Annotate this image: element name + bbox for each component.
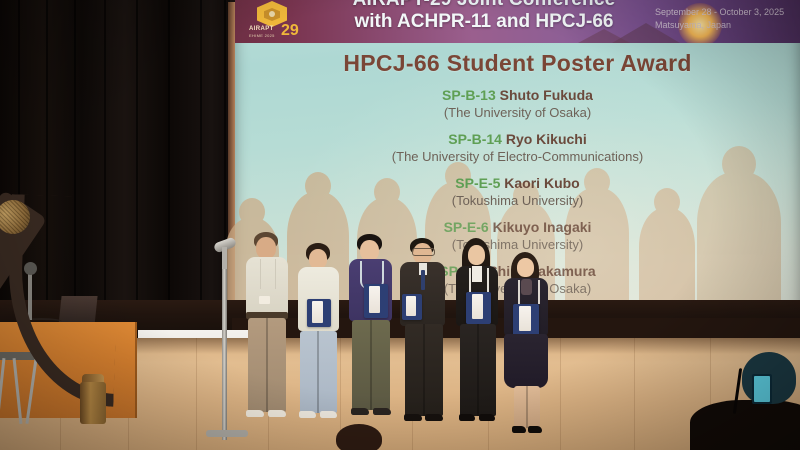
certificate-folder [513,304,539,336]
shoe [459,414,475,421]
banner-title-line2: with ACHPR-11 and HPCJ-66 [319,11,649,32]
audience-body [690,400,800,450]
award-entry-line: SP-B-14 Ryo Kikuchi [235,130,800,148]
mic-stand-head [210,238,240,268]
award-code: SP-B-14 [448,131,502,147]
folding-chair [0,352,38,426]
shoe [299,411,316,418]
legs [405,324,443,416]
banner-title-line1: AIRAPT-29 Joint Conference [319,0,649,10]
award-code: SP-B-13 [442,87,496,103]
award-name: Shiro Nakamura [488,263,595,279]
head [256,237,276,259]
award-code: SP-E-6 [444,219,489,235]
award-name: Kikuyo Inagaki [493,219,592,235]
legs [248,318,286,412]
lanyard [469,268,489,294]
shoe [320,411,337,418]
conference-banner: AIRAPT EHIME 2025 29 AIRAPT-29 Joint Con… [235,0,800,43]
head [517,258,534,277]
glasses-icon [412,248,435,256]
award-entry-line: SP-B-13 Shuto Fukuda [235,86,800,104]
legs [352,320,390,410]
head [309,249,327,269]
shoe [479,414,495,421]
mic-stand-foot [206,430,248,437]
logo-edition-number: 29 [281,23,299,39]
lanyard [518,280,540,304]
airapt-logo: AIRAPT EHIME 2025 29 [249,1,297,41]
name-badge [259,296,270,304]
mic-stand [222,262,227,440]
shoe [246,410,264,417]
shoe [512,426,526,433]
skirt [504,334,548,388]
hexagon-center-dot-icon [269,11,275,17]
award-code: SP-E-5 [455,175,500,191]
award-name: Kaori Kubo [504,175,579,191]
award-entry: SP-B-14 Ryo Kikuchi(The University of El… [235,130,800,165]
microphone-base [80,382,106,424]
award-entry: SP-B-13 Shuto Fukuda(The University of O… [235,86,800,121]
legs [514,386,540,428]
certificate-folder [307,299,331,327]
certificate-folder [402,294,422,320]
certificate-folder [364,284,388,318]
audience-head [336,424,382,450]
legs [460,324,496,416]
award-entry-line: SP-E-6 Kikuyo Inagaki [235,218,800,236]
banner-city: Matsuyama, Japan [655,19,731,32]
photo-canvas: AIRAPT EHIME 2025 29 AIRAPT-29 Joint Con… [0,0,800,450]
award-name: Ryo Kikuchi [506,131,587,147]
logo-subtext: EHIME 2025 [249,33,275,38]
head [468,245,485,265]
phone-screen [754,376,770,402]
head [360,240,379,261]
lanyard [260,259,276,289]
shoe [373,408,391,415]
certificate-folder [466,292,491,324]
shoe [528,426,542,433]
award-affiliation: (Tokushima University) [235,192,800,209]
shoe [425,414,443,421]
logo-wordmark: AIRAPT [249,26,274,32]
shoe [404,414,422,421]
shoe [268,410,286,417]
award-affiliation: (The University of Osaka) [235,104,800,121]
award-name: Shuto Fukuda [500,87,593,103]
slide-title: HPCJ-66 Student Poster Award [235,50,800,77]
necktie [421,270,425,290]
award-affiliation: (The University of Electro-Communication… [235,148,800,165]
legs [300,331,337,413]
shoe [351,408,369,415]
banner-date: September 28 - October 3, 2025 [655,6,784,19]
award-entry-line: SP-E-5 Kaori Kubo [235,174,800,192]
award-entry: SP-E-5 Kaori Kubo(Tokushima University) [235,174,800,209]
